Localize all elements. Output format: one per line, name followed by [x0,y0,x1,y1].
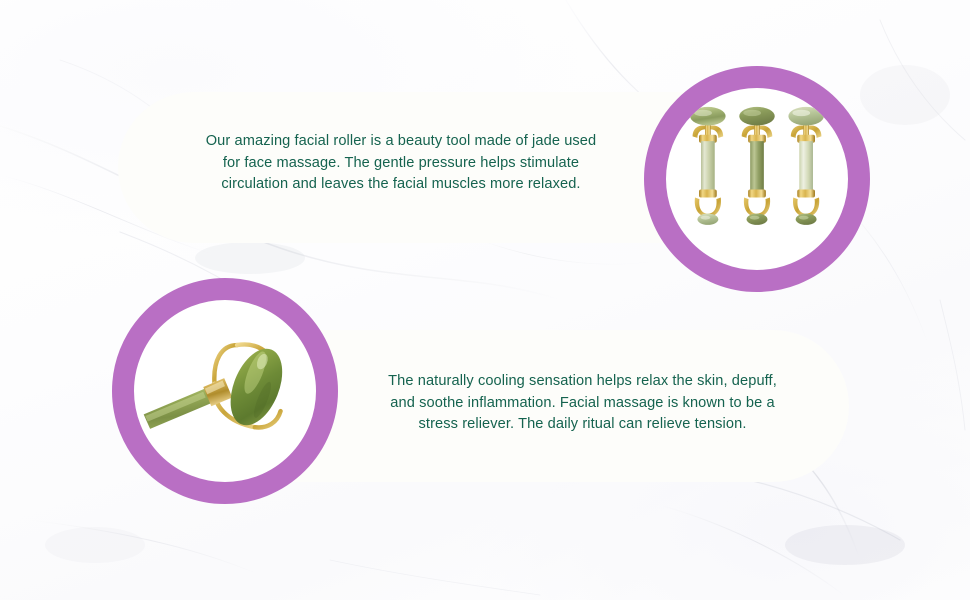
jade-roller-3 [788,107,823,225]
paragraph-top: Our amazing facial roller is a beauty to… [196,131,606,196]
jade-roller-1 [690,107,725,225]
infographic-canvas: Our amazing facial roller is a beauty to… [0,0,970,600]
paragraph-bottom: The naturally cooling sensation helps re… [375,371,790,436]
jade-roller-closeup [144,341,293,433]
jade-roller-closeup-photo [112,278,338,504]
jade-roller-2 [739,107,774,225]
three-jade-rollers-photo [644,66,870,292]
